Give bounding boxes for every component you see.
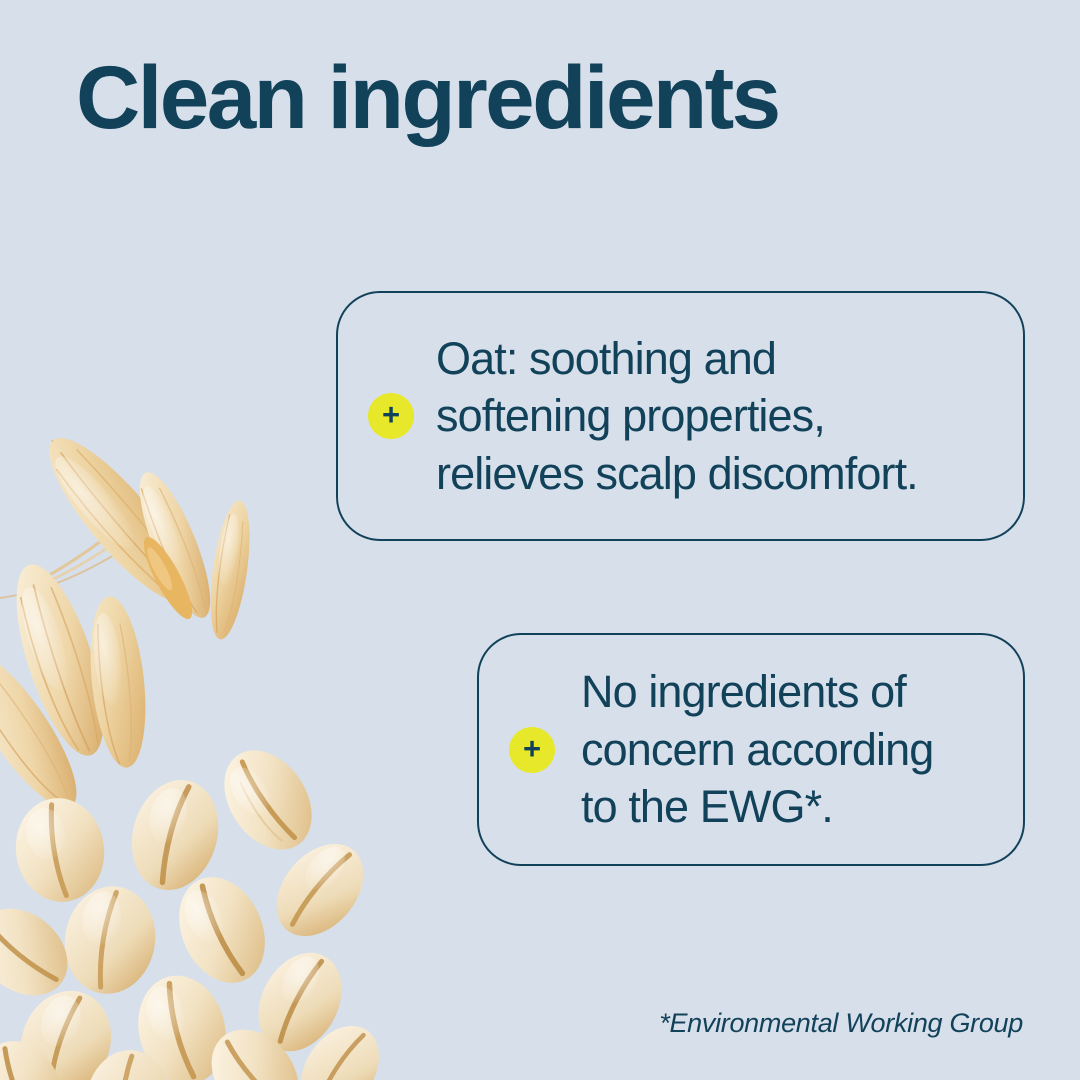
footnote: *Environmental Working Group xyxy=(659,1008,1023,1039)
page-title: Clean ingredients xyxy=(76,51,779,144)
callout-ewg-text: No ingredients of concern according to t… xyxy=(581,663,933,836)
plus-badge-icon: + xyxy=(509,727,555,773)
poster-canvas: Clean ingredients xyxy=(0,0,1080,1080)
callout-ewg: + No ingredients of concern according to… xyxy=(477,633,1025,866)
callout-oat-text: Oat: soothing and softening properties, … xyxy=(436,330,918,503)
plus-badge-icon: + xyxy=(368,393,414,439)
callout-oat: + Oat: soothing and softening properties… xyxy=(336,291,1025,541)
